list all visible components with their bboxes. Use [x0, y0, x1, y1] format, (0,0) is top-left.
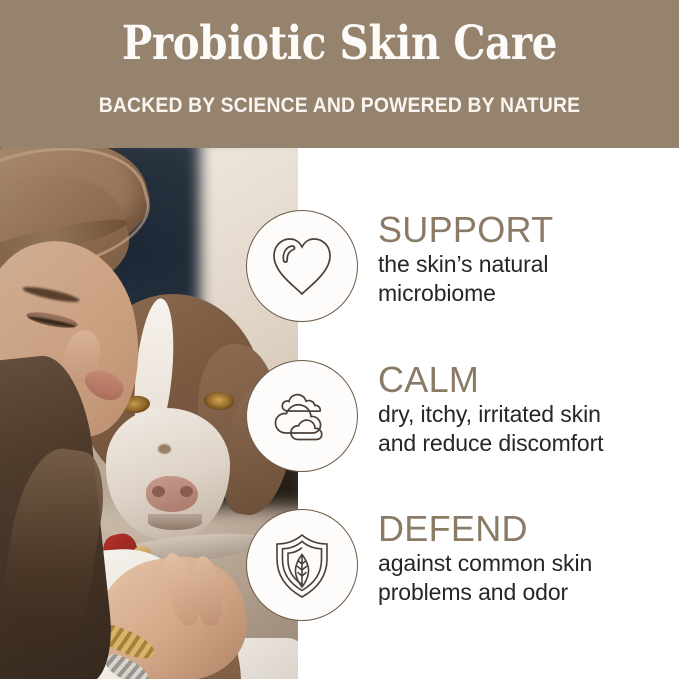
feature-row-support: SUPPORT the skin’s natural microbiome — [0, 210, 679, 340]
feature-description-line: the skin’s natural — [378, 250, 678, 279]
page-title: Probiotic Skin Care — [48, 16, 632, 72]
feature-text-support: SUPPORT the skin’s natural microbiome — [378, 210, 678, 308]
page-subtitle: BACKED BY SCIENCE AND POWERED BY NATURE — [34, 92, 645, 118]
feature-row-calm: CALM dry, itchy, irritated skin and redu… — [0, 360, 679, 490]
feature-title: DEFEND — [378, 509, 678, 549]
shield-leaf-icon — [246, 509, 358, 621]
feature-title: CALM — [378, 360, 678, 400]
feature-description: dry, itchy, irritated skin and reduce di… — [378, 400, 678, 458]
feature-description: the skin’s natural microbiome — [378, 250, 678, 308]
feature-title: SUPPORT — [378, 210, 678, 250]
cloud-icon — [246, 360, 358, 472]
feature-description-line: dry, itchy, irritated skin — [378, 400, 678, 429]
feature-description: against common skin problems and odor — [378, 549, 678, 607]
feature-text-calm: CALM dry, itchy, irritated skin and redu… — [378, 360, 678, 458]
feature-text-defend: DEFEND against common skin problems and … — [378, 509, 678, 607]
feature-description-line: microbiome — [378, 279, 678, 308]
feature-description-line: and reduce discomfort — [378, 429, 678, 458]
feature-description-line: problems and odor — [378, 578, 678, 607]
header-band: Probiotic Skin Care BACKED BY SCIENCE AN… — [0, 0, 679, 148]
feature-row-defend: DEFEND against common skin problems and … — [0, 509, 679, 639]
product-feature-graphic: Probiotic Skin Care BACKED BY SCIENCE AN… — [0, 0, 679, 679]
feature-description-line: against common skin — [378, 549, 678, 578]
heart-icon — [246, 210, 358, 322]
